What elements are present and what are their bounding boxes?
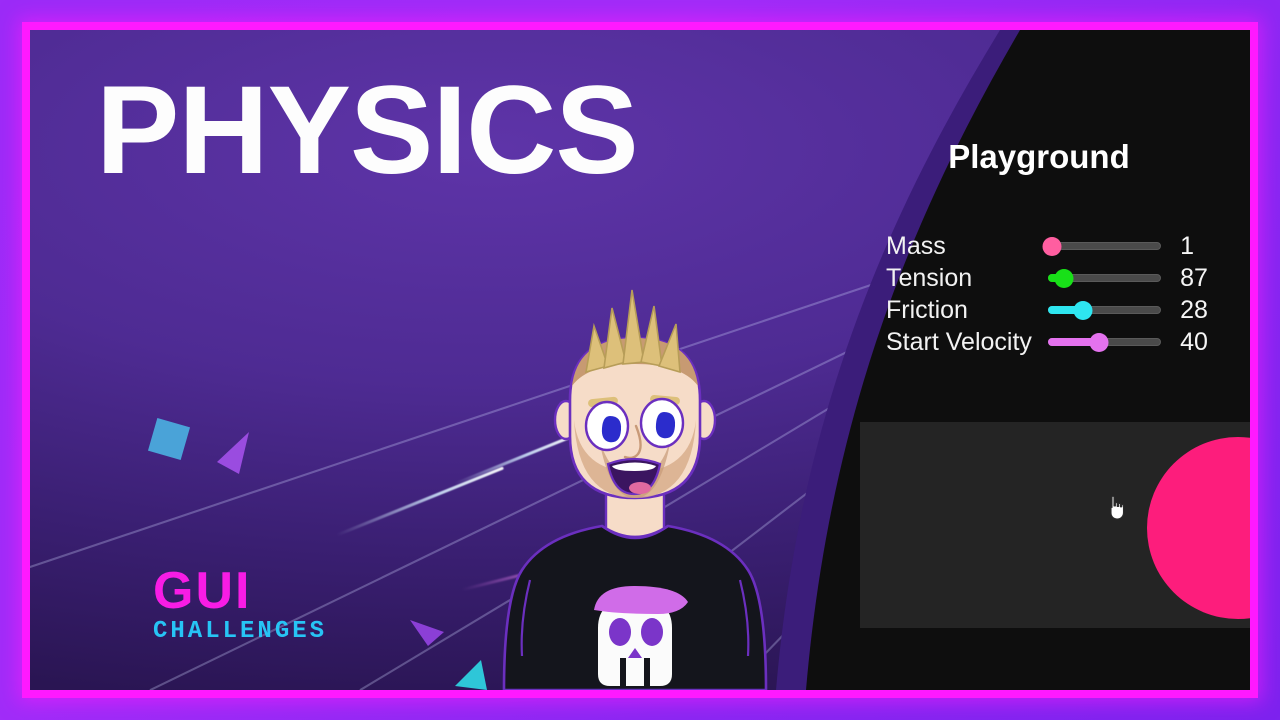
demo-panel: Playground Mass 1 Tension	[680, 30, 1250, 690]
control-label: Mass	[886, 232, 1048, 261]
control-label: Start Velocity	[886, 328, 1048, 357]
control-row-friction: Friction 28	[886, 294, 1234, 326]
logo-line-challenges: CHALLENGES	[153, 618, 327, 645]
gui-challenges-logo: GUI CHALLENGES	[153, 567, 327, 645]
controls-list: Mass 1 Tension	[886, 230, 1234, 358]
control-row-start-velocity: Start Velocity 40	[886, 326, 1234, 358]
page-title: PHYSICS	[96, 68, 638, 193]
slider-thumb[interactable]	[1089, 333, 1108, 352]
friction-slider[interactable]	[1048, 299, 1161, 321]
control-value: 40	[1161, 328, 1234, 357]
decor-diamond	[140, 412, 200, 472]
logo-line-gui: GUI	[153, 567, 327, 616]
slider-thumb[interactable]	[1073, 301, 1092, 320]
slider-thumb[interactable]	[1043, 237, 1062, 256]
control-value: 87	[1161, 264, 1234, 293]
start-velocity-slider[interactable]	[1048, 331, 1161, 353]
slider-track[interactable]	[1048, 242, 1161, 250]
control-value: 1	[1161, 232, 1234, 261]
tension-slider[interactable]	[1048, 267, 1161, 289]
control-label: Tension	[886, 264, 1048, 293]
control-row-tension: Tension 87	[886, 262, 1234, 294]
mass-slider[interactable]	[1048, 235, 1161, 257]
decor-triangle	[205, 422, 265, 492]
decor-triangle	[435, 638, 495, 690]
simulation-viewport[interactable]	[860, 422, 1250, 628]
playground-heading: Playground	[860, 138, 1218, 176]
control-value: 28	[1161, 296, 1234, 325]
slider-thumb[interactable]	[1054, 269, 1073, 288]
control-row-mass: Mass 1	[886, 230, 1234, 262]
pointer-hand-cursor	[1106, 495, 1128, 521]
draggable-ball[interactable]	[1147, 437, 1250, 619]
slide-stage: PHYSICS GUI CHALLENGES	[0, 0, 1280, 720]
slide-content: PHYSICS GUI CHALLENGES	[30, 30, 1250, 690]
demo-content: Playground Mass 1 Tension	[860, 30, 1250, 690]
control-label: Friction	[886, 296, 1048, 325]
